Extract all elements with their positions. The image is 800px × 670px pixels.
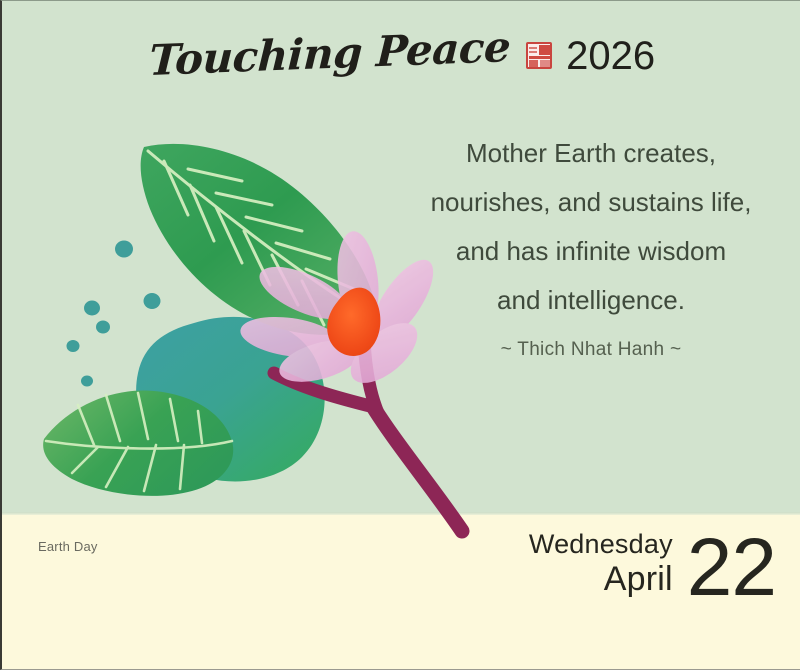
date-display: Wednesday April 22 [529, 529, 776, 604]
quote-line: and intelligence. [400, 276, 782, 325]
brand-year: 2026 [566, 36, 655, 76]
quote-line: nourishes, and sustains life, [400, 178, 782, 227]
red-seal-stamp-icon [526, 42, 552, 69]
quote-block: Mother Earth creates, nourishes, and sus… [400, 129, 782, 361]
date-weekday: Wednesday [529, 529, 673, 560]
date-month: April [529, 560, 673, 598]
date-day-number: 22 [687, 532, 776, 604]
quote-line: and has infinite wisdom [400, 227, 782, 276]
quote-line: Mother Earth creates, [400, 129, 782, 178]
quote-attribution: ~ Thich Nhat Hanh ~ [400, 339, 782, 361]
date-words: Wednesday April [529, 529, 673, 604]
calendar-page: Touching Peace 2026 [0, 0, 800, 670]
